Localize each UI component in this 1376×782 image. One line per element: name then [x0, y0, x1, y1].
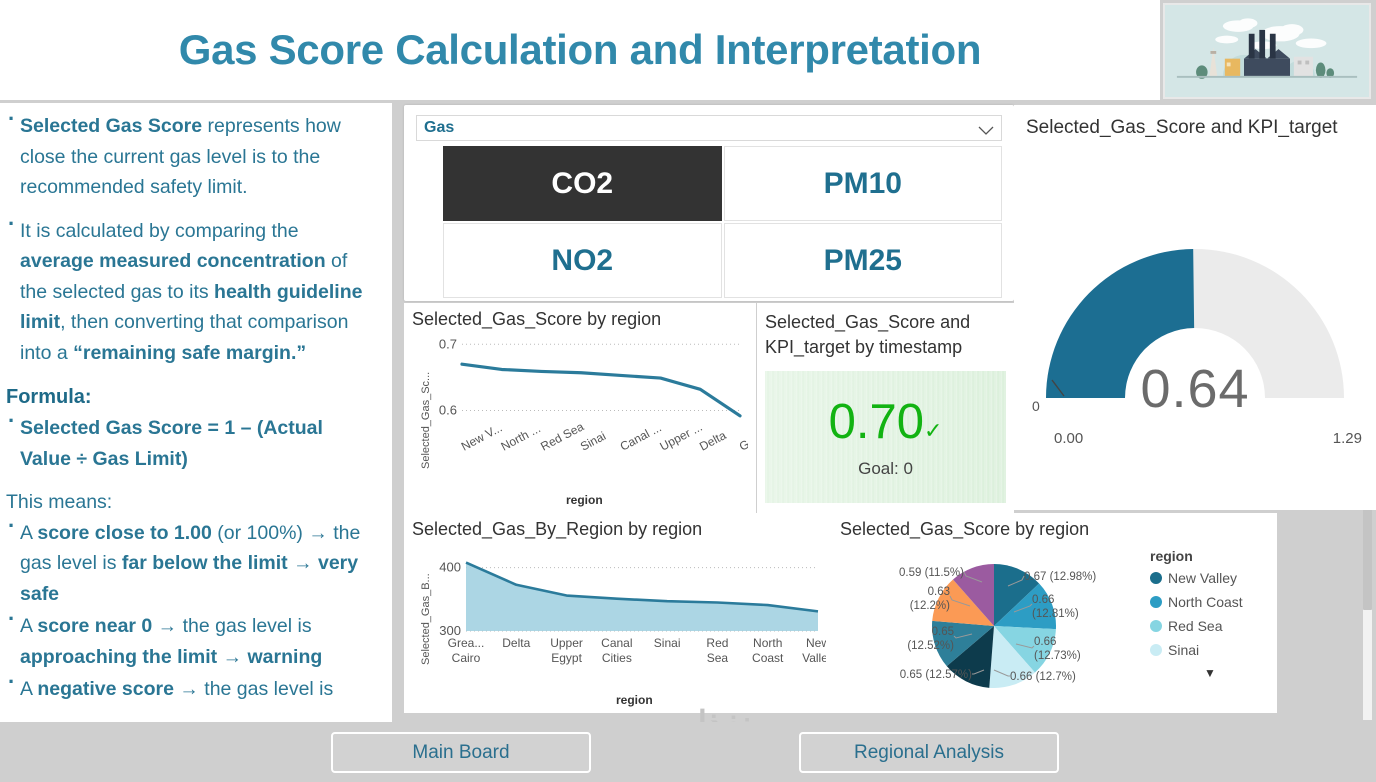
legend-color-swatch — [1150, 596, 1162, 608]
x-tick-label: Delta — [502, 636, 530, 650]
pie-data-label: 0.66 (12.7%) — [1010, 671, 1076, 683]
svg-text:0.65: 0.65 — [932, 626, 954, 638]
svg-text:Delta: Delta — [502, 636, 530, 650]
svg-text:Cities: Cities — [602, 651, 632, 665]
svg-text:0.66: 0.66 — [1032, 594, 1054, 606]
svg-text:North: North — [753, 636, 782, 650]
page-title: Gas Score Calculation and Interpretation — [179, 26, 982, 74]
x-tick-label: NorthCoast — [752, 636, 784, 665]
gas-slicer: Gas CO2PM10NO2PM25 — [404, 105, 1014, 301]
gas-option-no2[interactable]: NO2 — [443, 223, 722, 298]
gauge-value: 0.64 — [1014, 358, 1376, 420]
svg-text:Upper: Upper — [550, 636, 583, 650]
line-series — [462, 364, 740, 416]
x-tick-label: CanalCities — [601, 636, 632, 665]
text-run: → the gas level is — [174, 678, 333, 700]
legend-color-swatch — [1150, 644, 1162, 656]
legend-item[interactable]: Red Sea — [1150, 618, 1270, 634]
x-tick-label: Canal ... — [618, 420, 664, 453]
area-chart-x-axis-label: region — [616, 693, 653, 707]
text-run: A — [20, 615, 37, 637]
gas-slicer-header[interactable]: Gas — [416, 115, 1002, 141]
text-run: Selected Gas Score — [20, 115, 202, 137]
pie-data-label: 0.65 (12.57%) — [900, 669, 972, 681]
dashboard-root: Gas Score Calculation and Interpretation — [0, 0, 1376, 782]
svg-text:(12.2%): (12.2%) — [910, 600, 950, 612]
svg-text:(12.81%): (12.81%) — [1032, 608, 1079, 620]
text-run: average measured concentration — [20, 250, 326, 272]
area-chart-plot: 300400Grea...CairoDeltaUpperEgyptCanalCi… — [430, 543, 826, 683]
svg-text:Grea...: Grea... — [448, 636, 485, 650]
explanation-panel: Selected Gas Score represents how close … — [0, 103, 392, 723]
x-tick-label: Red Sea — [538, 419, 586, 453]
svg-text:Egypt: Egypt — [551, 651, 582, 665]
gauge-max-label: 1.29 — [1333, 430, 1362, 447]
legend-label: Sinai — [1168, 642, 1199, 658]
x-tick-label: Greate... — [737, 419, 748, 453]
line-chart-card: Selected_Gas_Score by region Selected_Ga… — [404, 303, 756, 515]
pie-chart-title: Selected_Gas_Score by region — [832, 513, 1277, 540]
line-chart-plot: 0.60.7New V...North ...Red SeaSinaiCanal… — [428, 335, 748, 485]
explanation-line: A negative score → the gas level is — [6, 674, 376, 705]
check-icon: ✓ — [924, 418, 942, 443]
y-tick-label: 400 — [439, 560, 461, 575]
gauge-title: Selected_Gas_Score and KPI_target — [1014, 105, 1376, 140]
svg-text:New: New — [806, 636, 826, 650]
text-run: “remaining safe margin.” — [73, 342, 306, 364]
svg-text:Cairo: Cairo — [452, 651, 481, 665]
pie-chart-card: Selected_Gas_Score by region 0.67 (12.98… — [832, 513, 1277, 713]
y-tick-label: 0.6 — [439, 403, 457, 418]
svg-text:0.59 (11.5%): 0.59 (11.5%) — [899, 567, 964, 579]
kpi-value-number: 0.70 — [829, 395, 924, 449]
gauge-min-label: 0.00 — [1054, 430, 1083, 447]
text-run: score near 0 — [37, 615, 152, 637]
text-run: This means: — [6, 491, 112, 513]
area-chart-title: Selected_Gas_By_Region by region — [404, 513, 834, 540]
area-fill — [466, 563, 818, 631]
legend-label: New Valley — [1168, 570, 1237, 586]
pie-data-label: 0.67 (12.98%) — [1024, 571, 1096, 583]
svg-text:Sinai: Sinai — [654, 636, 681, 650]
gas-option-pm10[interactable]: PM10 — [724, 146, 1003, 221]
explanation-line: It is calculated by comparing the averag… — [6, 216, 376, 369]
pie-chart-plot: 0.67 (12.98%)0.66(12.81%)0.66(12.73%)0.6… — [834, 541, 1154, 711]
svg-text:Sea: Sea — [707, 651, 729, 665]
svg-text:Red: Red — [706, 636, 728, 650]
svg-text:0.66: 0.66 — [1034, 636, 1056, 648]
line-chart-title: Selected_Gas_Score by region — [404, 303, 756, 330]
kpi-title: Selected_Gas_Score and KPI_target by tim… — [757, 303, 1014, 360]
y-tick-label: 0.7 — [439, 336, 457, 351]
kpi-goal-label: Goal: 0 — [858, 459, 913, 479]
spacer — [6, 370, 376, 381]
text-run: score close to 1.00 — [37, 522, 212, 544]
legend-color-swatch — [1150, 572, 1162, 584]
legend-color-swatch — [1150, 620, 1162, 632]
x-tick-label: UpperEgypt — [550, 636, 583, 665]
svg-text:(12.52%): (12.52%) — [907, 640, 954, 652]
spacer — [6, 476, 376, 487]
chevron-down-icon[interactable]: ▼ — [1150, 666, 1270, 680]
gauge-visual: 0 0.64 0.00 1.29 — [1014, 140, 1376, 470]
spacer — [6, 205, 376, 216]
explanation-line: This means: — [6, 487, 376, 518]
gas-option-grid: CO2PM10NO2PM25 — [443, 146, 1002, 298]
text-run: A — [20, 678, 37, 700]
x-tick-label: Upper ... — [657, 420, 704, 454]
svg-text:0.65 (12.57%): 0.65 (12.57%) — [900, 669, 972, 681]
text-run: Selected Gas Score = 1 – (Actual Value ÷… — [20, 417, 323, 470]
page-header: Gas Score Calculation and Interpretation — [0, 0, 1160, 100]
text-run: → the gas level is — [152, 615, 311, 637]
x-tick-label: North ... — [499, 421, 543, 453]
kpi-body: 0.70✓ Goal: 0 — [765, 371, 1006, 503]
factory-illustration-icon — [1163, 3, 1371, 99]
pie-data-label: 0.59 (11.5%) — [899, 567, 964, 579]
formula-heading: Formula: — [6, 381, 376, 413]
svg-text:Canal: Canal — [601, 636, 632, 650]
pie-chart-legend: region New ValleyNorth CoastRed SeaSinai… — [1150, 548, 1270, 680]
x-tick-label: New V... — [459, 421, 505, 454]
svg-text:0.67 (12.98%): 0.67 (12.98%) — [1024, 571, 1096, 583]
bottom-nav-bar: Main Board Regional Analysis — [0, 722, 1376, 782]
text-run: negative score — [37, 678, 174, 700]
legend-label: North Coast — [1168, 594, 1243, 610]
line-chart-x-axis-label: region — [566, 493, 603, 507]
gas-slicer-label: Gas — [424, 119, 454, 137]
svg-text:Coast: Coast — [752, 651, 784, 665]
explanation-line: A score close to 1.00 (or 100%) → the ga… — [6, 518, 376, 610]
legend-title: region — [1150, 548, 1270, 564]
kpi-value: 0.70✓ — [829, 396, 943, 457]
svg-text:0.66 (12.7%): 0.66 (12.7%) — [1010, 671, 1076, 683]
text-run: A — [20, 522, 37, 544]
regional-analysis-button[interactable]: Regional Analysis — [799, 732, 1059, 773]
svg-text:0.63: 0.63 — [928, 586, 950, 598]
explanation-line: A score near 0 → the gas level is approa… — [6, 611, 376, 672]
area-chart-card: Selected_Gas_By_Region by region Selecte… — [404, 513, 834, 713]
text-run: It is calculated by comparing the — [20, 220, 299, 242]
legend-item[interactable]: Sinai — [1150, 642, 1270, 658]
legend-item[interactable]: North Coast — [1150, 594, 1270, 610]
main-board-button[interactable]: Main Board — [331, 732, 591, 773]
gas-option-co2[interactable]: CO2 — [443, 146, 722, 221]
legend-label: Red Sea — [1168, 618, 1222, 634]
chevron-down-icon[interactable] — [978, 123, 994, 133]
legend-item[interactable]: New Valley — [1150, 570, 1270, 586]
gauge-card: Selected_Gas_Score and KPI_target 0 0.64… — [1014, 105, 1376, 510]
x-tick-label: Sinai — [654, 636, 681, 650]
svg-text:(12.73%): (12.73%) — [1034, 650, 1081, 662]
x-tick-label: NewValley — [802, 636, 826, 665]
text-run: Formula: — [6, 386, 92, 408]
kpi-card: Selected_Gas_Score and KPI_target by tim… — [757, 303, 1014, 515]
explanation-line: Selected Gas Score = 1 – (Actual Value ÷… — [6, 413, 376, 474]
text-run: approaching the limit → warning — [20, 646, 322, 668]
x-tick-label: RedSea — [706, 636, 728, 665]
x-tick-label: Grea...Cairo — [448, 636, 485, 665]
svg-text:Valley: Valley — [802, 651, 826, 665]
explanation-line: Selected Gas Score represents how close … — [6, 111, 376, 203]
gas-option-pm25[interactable]: PM25 — [724, 223, 1003, 298]
